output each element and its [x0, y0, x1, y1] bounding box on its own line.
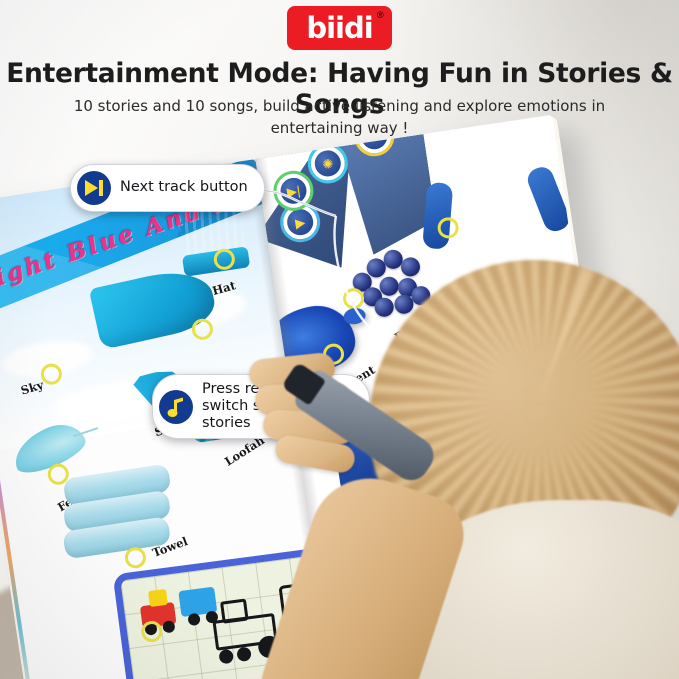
callout-next-track-label: Next track button — [120, 179, 248, 196]
trademark-symbol: ® — [377, 10, 401, 20]
brand-logo: biidi ® — [287, 6, 392, 50]
music-note-icon — [159, 390, 193, 424]
product-infographic: biidi ® Entertainment Mode: Having Fun i… — [0, 0, 679, 679]
next-track-glyph — [83, 179, 105, 197]
brand-logo-text: biidi — [306, 14, 372, 43]
child-reading — [239, 230, 679, 679]
page-control-sun-star[interactable]: ✺ — [313, 149, 343, 179]
music-note-glyph — [166, 396, 186, 418]
callout-next-track[interactable]: Next track button — [70, 164, 265, 212]
page-control-next-track[interactable]: ▶| — [279, 176, 309, 206]
next-track-icon — [77, 171, 111, 205]
audio-spot-towel[interactable] — [124, 546, 148, 570]
